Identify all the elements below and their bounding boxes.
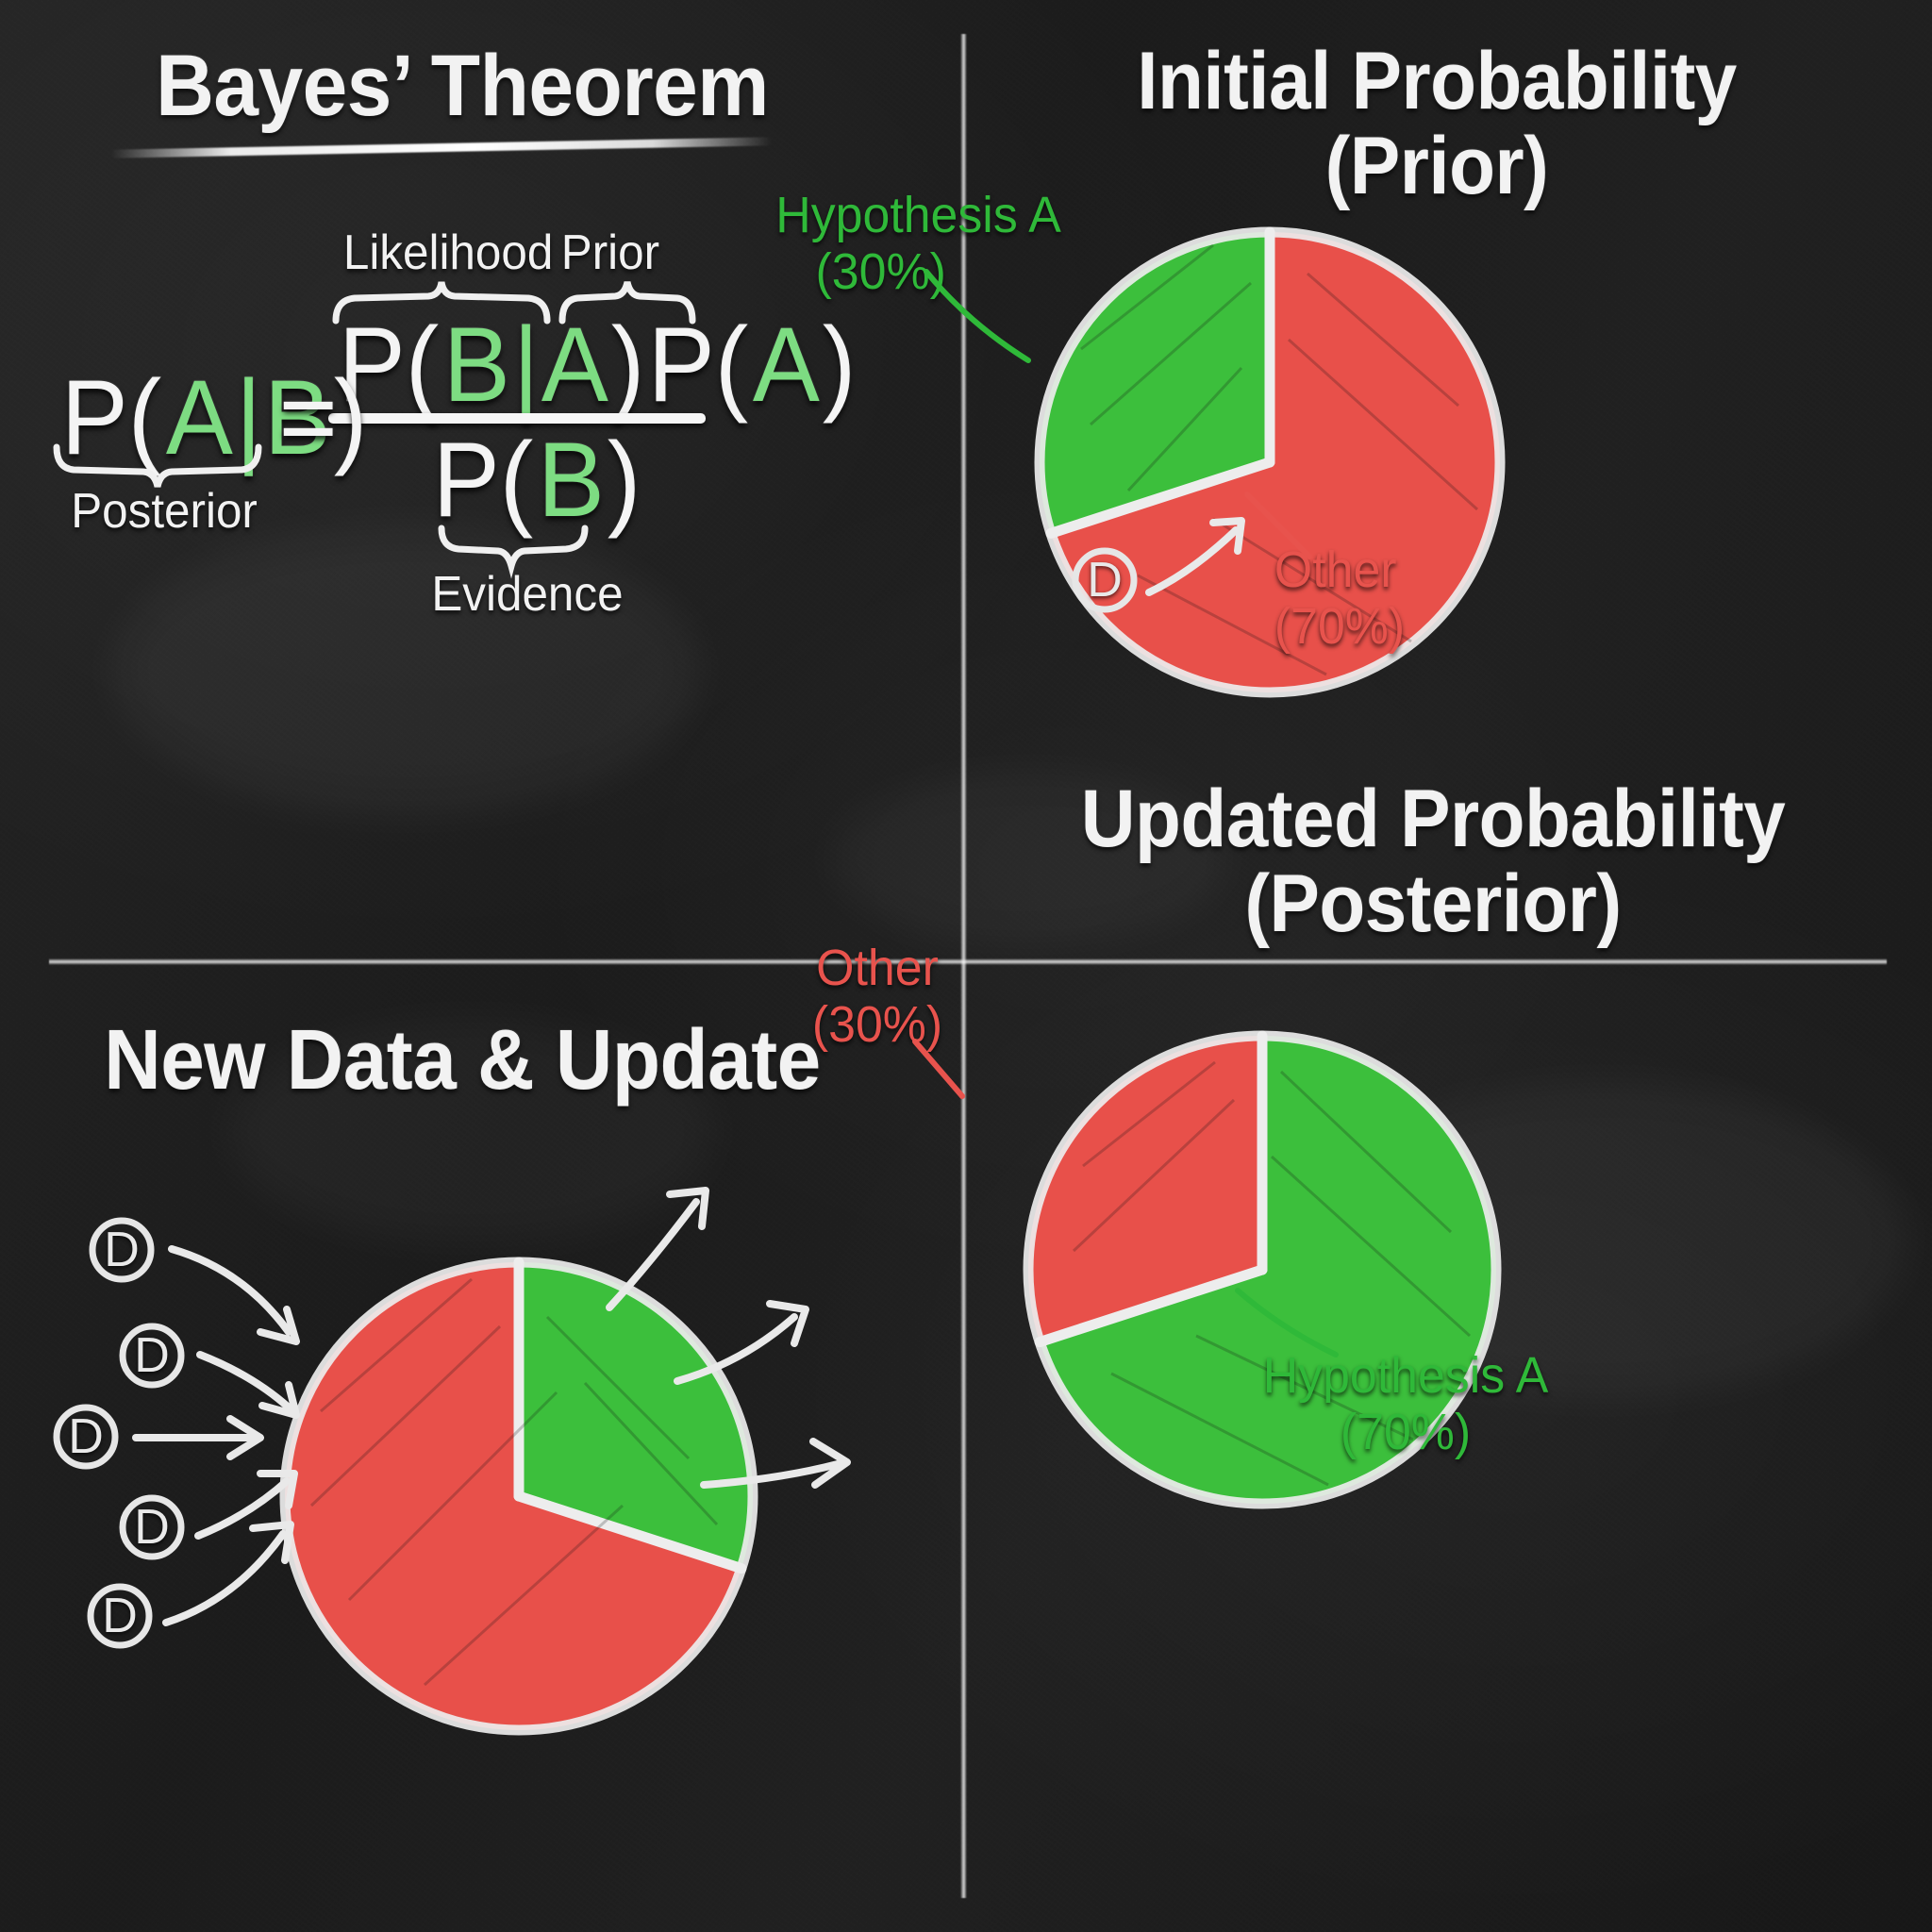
quadrant-bottom-right: Updated Probability (Posterior) Oth <box>960 958 1932 1932</box>
page-title: Bayes’ Theorem <box>85 42 840 132</box>
label-prior: Prior <box>561 225 659 281</box>
label-other-prior-line2: (70%) <box>1274 598 1405 655</box>
arrow-data-1-icon <box>168 1241 328 1364</box>
posterior-title-line2: (Posterior) <box>981 862 1885 946</box>
data-marker-1: D <box>87 1215 157 1285</box>
data-marker-prior: D <box>1070 545 1140 615</box>
denominator-p: P( <box>433 419 533 541</box>
leader-line-other-posterior-icon <box>911 1038 1015 1113</box>
label-other-posterior: Other (30%) <box>812 940 942 1054</box>
arrow-update-icon <box>1145 509 1268 613</box>
label-other-posterior-line1: Other <box>816 940 939 996</box>
data-marker-3: D <box>51 1402 121 1472</box>
formula-numerator: P(B|A)P(A) <box>336 304 857 425</box>
label-hypothesis-a-posterior-line2: (70%) <box>1341 1404 1471 1460</box>
update-title: New Data & Update <box>50 1017 874 1106</box>
quadrant-top-left: Bayes’ Theorem Likelihood Prior P(B|A)P(… <box>0 0 960 958</box>
formula-equals: = <box>277 357 339 478</box>
data-marker-letter: D <box>1087 552 1123 608</box>
leader-line-hypothesis-icon <box>923 266 1055 370</box>
leader-line-hypothesis-posterior-icon <box>1234 1287 1366 1372</box>
numerator-prior-close: ) <box>822 304 855 425</box>
equals-sign: = <box>279 357 338 478</box>
arrow-data-5-icon <box>162 1506 323 1638</box>
numerator-likelihood-var-a: A <box>541 304 608 425</box>
data-marker-letter: D <box>102 1588 138 1644</box>
denominator-close: ) <box>608 419 641 541</box>
posterior-title-line1: Updated Probability <box>981 777 1885 861</box>
numerator-likelihood-var-b: B <box>443 304 510 425</box>
label-evidence: Evidence <box>431 566 623 623</box>
formula-denominator: P(B) <box>430 419 641 541</box>
chalkboard: Bayes’ Theorem Likelihood Prior P(B|A)P(… <box>0 0 1932 1932</box>
data-marker-letter: D <box>68 1408 104 1465</box>
data-marker-letter: D <box>134 1327 170 1384</box>
prior-title-line1: Initial Probability <box>993 40 1879 124</box>
label-likelihood: Likelihood <box>343 225 553 281</box>
numerator-prior-var-a: A <box>753 304 820 425</box>
arrow-out-2-icon <box>672 1289 832 1392</box>
numerator-likelihood-bar: | <box>512 304 539 425</box>
data-marker-2: D <box>117 1321 187 1391</box>
denominator-var-b: B <box>538 419 605 541</box>
data-marker-letter: D <box>104 1222 140 1278</box>
arrow-out-3-icon <box>698 1426 868 1511</box>
label-hypothesis-a-prior-line1: Hypothesis A <box>775 187 1061 243</box>
numerator-prior-p: P( <box>648 304 748 425</box>
title-underline <box>111 137 772 158</box>
brace-evidence-icon <box>438 528 589 570</box>
numerator-likelihood-close: ) <box>610 304 643 425</box>
data-marker-letter: D <box>134 1499 170 1556</box>
label-posterior: Posterior <box>71 483 258 540</box>
data-marker-5: D <box>85 1581 155 1651</box>
quadrant-bottom-left: New Data & Update D <box>0 958 960 1932</box>
